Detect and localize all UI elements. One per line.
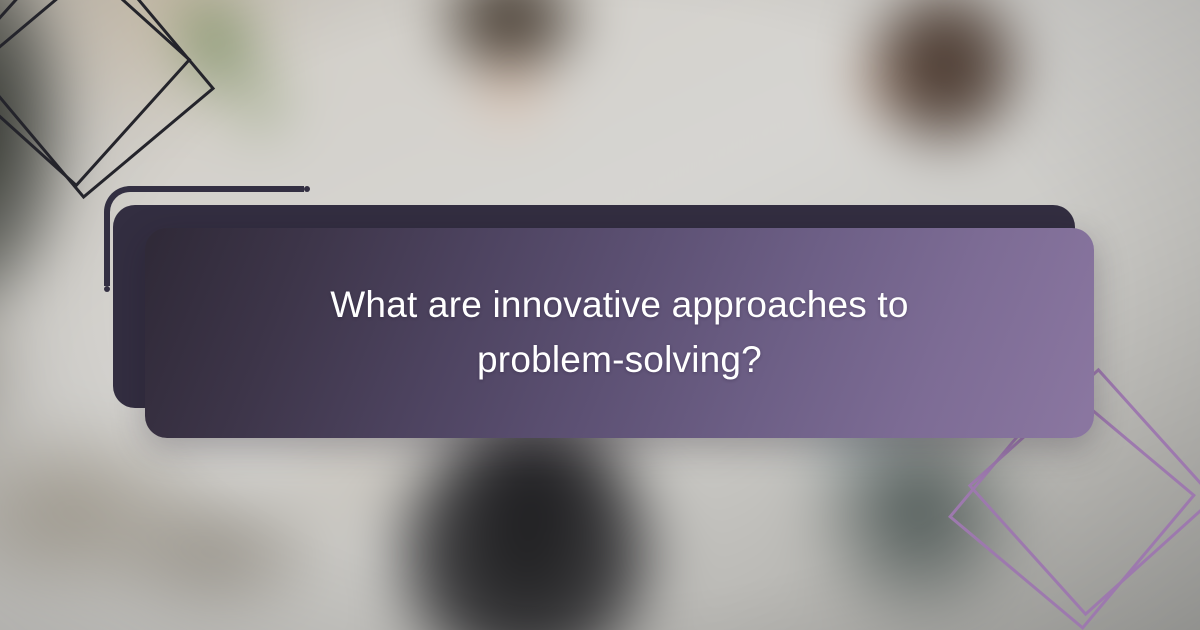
quote-card-stack: What are innovative approaches to proble… [104,186,1096,442]
poster-canvas: What are innovative approaches to proble… [0,0,1200,630]
quote-text: What are innovative approaches to proble… [231,278,1009,388]
rotated-square-icon [0,0,215,199]
quote-card: What are innovative approaches to proble… [145,228,1094,438]
